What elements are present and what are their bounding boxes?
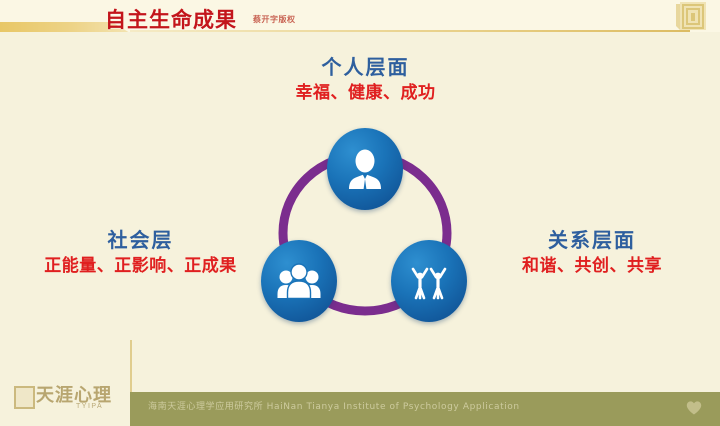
footer-institute-name: 海南天涯心理学应用研究所 HaiNan Tianya Institute of … — [148, 399, 520, 412]
presentation-slide: 自主生命成果 蔡开字版权 个人层面 幸福、健康、成功 社会层 正能量、正影响、正… — [0, 0, 720, 426]
label-relation-heading: 关系层面 — [472, 228, 712, 253]
person-suit-icon — [345, 148, 385, 190]
label-social-heading: 社会层 — [8, 228, 273, 253]
label-relation-level: 关系层面 和谐、共创、共享 — [472, 228, 712, 277]
seal-logo-icon — [672, 0, 712, 32]
label-personal-sub: 幸福、健康、成功 — [253, 82, 478, 104]
page-title: 自主生命成果 — [105, 4, 237, 34]
node-relation[interactable] — [391, 240, 467, 322]
brand-logo: 天涯心理 TYIPA — [14, 381, 126, 417]
heart-icon — [686, 400, 702, 416]
two-people-arms-raised-icon — [407, 259, 451, 303]
brand-logo-subtext: TYIPA — [76, 403, 103, 410]
seal-square-icon — [14, 386, 35, 409]
label-personal-level: 个人层面 幸福、健康、成功 — [253, 55, 478, 104]
people-group-icon — [277, 262, 321, 300]
copyright-watermark: 蔡开字版权 — [253, 14, 296, 25]
slide-header: 自主生命成果 蔡开字版权 — [0, 0, 720, 32]
node-personal[interactable] — [327, 128, 403, 210]
footer-vertical-divider — [130, 340, 132, 394]
label-social-sub: 正能量、正影响、正成果 — [8, 255, 273, 277]
node-social[interactable] — [261, 240, 337, 322]
label-relation-sub: 和谐、共创、共享 — [472, 255, 712, 277]
label-social-level: 社会层 正能量、正影响、正成果 — [8, 228, 273, 277]
label-personal-heading: 个人层面 — [253, 55, 478, 80]
three-node-cycle-diagram — [243, 128, 488, 338]
